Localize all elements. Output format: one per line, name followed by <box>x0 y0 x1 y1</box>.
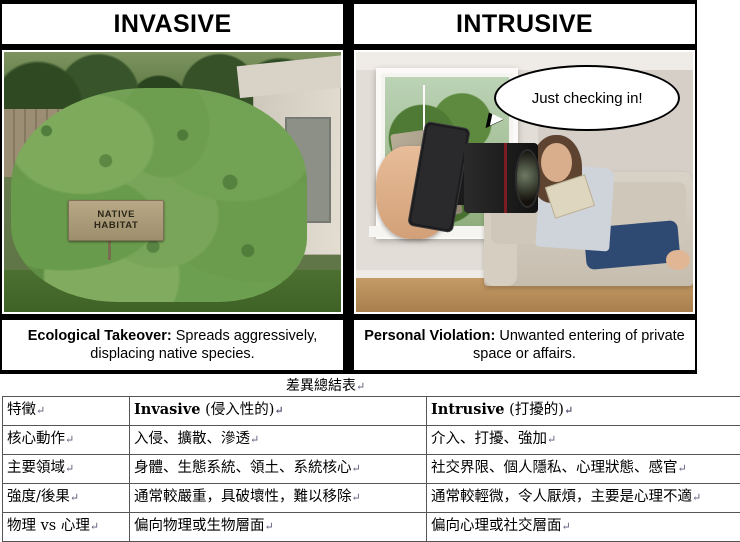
header-invasive-zh: (侵入性的) <box>200 402 274 418</box>
table-row: 主要領域↵ 身體、生態系統、領土、系統核心↵ 社交界限、個人隱私、心理狀態、感官… <box>3 455 740 484</box>
intrusive-photo: Just checking in! <box>356 52 693 312</box>
comparison-column-intrusive: INTRUSIVE <box>352 0 697 374</box>
pilcrow-mark: ↵ <box>265 520 274 533</box>
intrusive-caption-cell: Personal Violation: Unwanted entering of… <box>352 318 697 372</box>
pilcrow-mark: ↵ <box>678 462 687 475</box>
pilcrow-mark: ↵ <box>352 491 361 504</box>
invasive-caption: Ecological Takeover: Spreads aggressivel… <box>8 327 337 363</box>
pilcrow-mark: ↵ <box>65 462 74 475</box>
row-feature: 主要領域↵ <box>3 455 130 484</box>
table-row: 強度/後果↵ 通常較嚴重，具破壞性，難以移除↵ 通常較輕微，令人厭煩，主要是心理… <box>3 484 740 513</box>
table-row: 物理 vs 心理↵ 偏向物理或生物層面↵ 偏向心理或社交層面↵ <box>3 513 740 542</box>
row-invasive: 通常較嚴重，具破壞性，難以移除↵ <box>130 484 427 513</box>
summary-table: 特徵↵ Invasive (侵入性的)↵ Intrusive (打擾的)↵ 核心… <box>2 396 740 542</box>
pilcrow-mark: ↵ <box>274 404 283 417</box>
intrusive-title: INTRUSIVE <box>456 12 593 37</box>
row-invasive: 身體、生態系統、領土、系統核心↵ <box>130 455 427 484</box>
header-intrusive-zh: (打擾的) <box>505 402 564 418</box>
row-feature-text: 強度/後果 <box>7 489 70 505</box>
row-feature: 強度/後果↵ <box>3 484 130 513</box>
header-cell-feature: 特徵↵ <box>3 397 130 426</box>
row-intrusive-text: 介入、打擾、強加 <box>431 431 547 447</box>
header-feature-text: 特徵 <box>7 402 36 418</box>
invasive-image-cell: NATIVE HABITAT <box>0 48 345 316</box>
comparison-block: INVASIVE <box>0 0 697 374</box>
row-invasive-text: 身體、生態系統、領土、系統核心 <box>134 460 352 476</box>
living-room-scene: Just checking in! <box>356 52 693 312</box>
pilcrow-mark: ↵ <box>90 520 99 533</box>
row-intrusive-text: 通常較輕微，令人厭煩，主要是心理不適 <box>431 489 692 505</box>
row-invasive: 入侵、擴散、滲透↵ <box>130 426 427 455</box>
row-intrusive-text: 社交界限、個人隱私、心理狀態、感官 <box>431 460 678 476</box>
pilcrow-mark: ↵ <box>250 433 259 446</box>
lens-red-ring <box>504 143 507 213</box>
pilcrow-mark: ↵ <box>564 404 573 417</box>
header-cell-intrusive: Intrusive (打擾的)↵ <box>427 397 740 426</box>
row-invasive: 偏向物理或生物層面↵ <box>130 513 427 542</box>
comparison-column-invasive: INVASIVE <box>0 0 345 374</box>
native-habitat-sign: NATIVE HABITAT <box>68 200 164 241</box>
speech-bubble-text: Just checking in! <box>532 91 643 106</box>
intrusive-caption: Personal Violation: Unwanted entering of… <box>360 327 689 363</box>
header-cell-invasive: Invasive (侵入性的)↵ <box>130 397 427 426</box>
row-feature: 核心動作↵ <box>3 426 130 455</box>
header-invasive-latin: Invasive <box>134 401 200 418</box>
camera-lens-icon <box>464 143 538 213</box>
intrusive-caption-label: Personal Violation: <box>364 328 495 344</box>
row-intrusive: 偏向心理或社交層面↵ <box>427 513 740 542</box>
table-header-row: 特徵↵ Invasive (侵入性的)↵ Intrusive (打擾的)↵ <box>3 397 740 426</box>
pilcrow-mark: ↵ <box>352 462 361 475</box>
row-feature: 物理 vs 心理↵ <box>3 513 130 542</box>
vine-leaf-texture <box>11 88 308 301</box>
invasive-caption-label: Ecological Takeover: <box>28 328 172 344</box>
pilcrow-mark: ↵ <box>65 433 74 446</box>
person-head <box>541 143 571 182</box>
row-intrusive: 通常較輕微，令人厭煩，主要是心理不適↵ <box>427 484 740 513</box>
pilcrow-mark: ↵ <box>356 380 365 393</box>
intrusive-image-cell: Just checking in! <box>352 48 697 316</box>
invasive-photo: NATIVE HABITAT <box>4 52 341 312</box>
row-invasive-text: 入侵、擴散、滲透 <box>134 431 250 447</box>
summary-table-title: 差異總結表↵ <box>286 379 365 393</box>
invasive-title: INVASIVE <box>113 12 231 37</box>
row-feature-text: 核心動作 <box>7 431 65 447</box>
intrusive-title-cell: INTRUSIVE <box>352 2 697 46</box>
invasive-vine-mass <box>11 88 308 301</box>
sign-line-2: HABITAT <box>94 221 138 232</box>
pilcrow-mark: ↵ <box>70 491 79 504</box>
table-row: 核心動作↵ 入侵、擴散、滲透↵ 介入、打擾、強加↵ <box>3 426 740 455</box>
speech-bubble: Just checking in! <box>494 65 680 131</box>
invasive-title-cell: INVASIVE <box>0 2 345 46</box>
person-feet <box>666 250 690 271</box>
invasive-caption-cell: Ecological Takeover: Spreads aggressivel… <box>0 318 345 372</box>
pilcrow-mark: ↵ <box>562 520 571 533</box>
row-intrusive: 介入、打擾、強加↵ <box>427 426 740 455</box>
page-root: INVASIVE <box>0 0 740 532</box>
summary-table-title-text: 差異總結表 <box>286 378 356 394</box>
pilcrow-mark: ↵ <box>692 491 701 504</box>
pilcrow-mark: ↵ <box>547 433 556 446</box>
header-intrusive-latin: Intrusive <box>431 401 505 418</box>
row-feature-text: 主要領域 <box>7 460 65 476</box>
row-intrusive: 社交界限、個人隱私、心理狀態、感官↵ <box>427 455 740 484</box>
pilcrow-mark: ↵ <box>36 404 45 417</box>
yard-scene: NATIVE HABITAT <box>4 52 341 312</box>
row-invasive-text: 通常較嚴重，具破壞性，難以移除 <box>134 489 352 505</box>
intrusive-caption-body: Unwanted entering of private space or af… <box>473 328 685 362</box>
